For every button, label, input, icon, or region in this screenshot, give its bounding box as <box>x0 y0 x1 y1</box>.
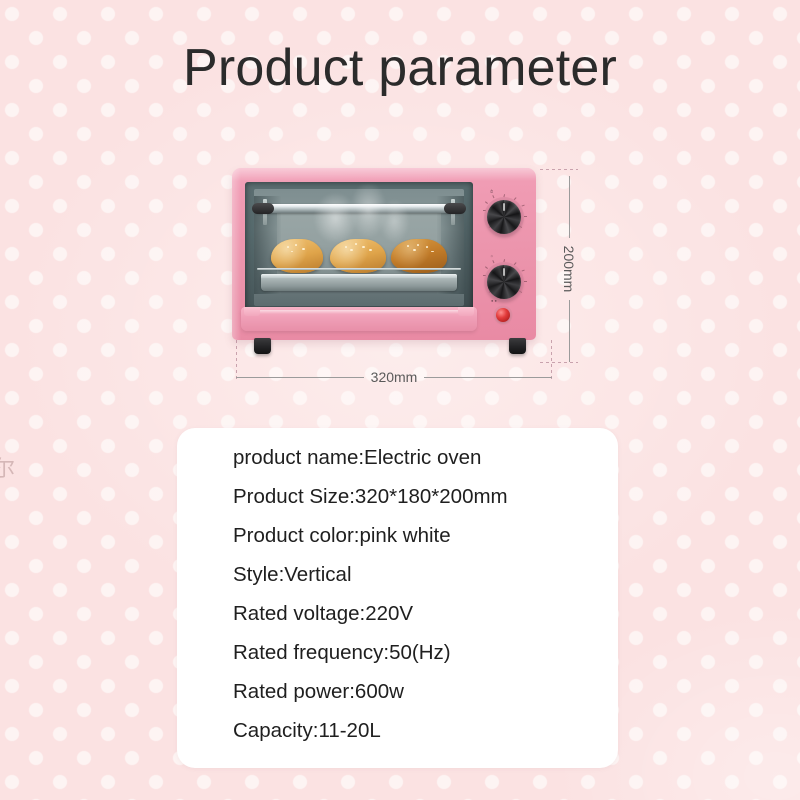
width-dimension-line-right <box>424 377 552 378</box>
oven-glass-door <box>245 182 473 311</box>
width-dimension-label: 320mm <box>371 368 418 386</box>
spec-item-rated-power: Rated power:600w <box>233 672 604 711</box>
page-title: Product parameter <box>0 36 800 100</box>
heating-element <box>255 204 463 213</box>
spec-item-style: Style:Vertical <box>233 555 604 594</box>
timer-knob[interactable] <box>487 200 521 234</box>
width-dimension-line-left <box>236 377 364 378</box>
specification-card: product name:Electric oven Product Size:… <box>177 428 618 768</box>
height-dimension-line-top <box>569 176 570 238</box>
oven-top-highlight <box>232 168 536 181</box>
baking-tray <box>261 274 457 291</box>
product-parameter-page: Product parameter 尔 <box>0 0 800 800</box>
power-indicator-label: ● ● <box>491 299 497 303</box>
temperature-dial-mark: ☼ <box>490 254 494 258</box>
spec-item-capacity: Capacity:11-20L <box>233 711 604 750</box>
product-photo: ⏱ ☼ <box>232 168 552 364</box>
oven-foot-left <box>254 338 271 354</box>
temperature-knob[interactable] <box>487 265 521 299</box>
heating-element-cap-right <box>444 203 466 214</box>
wire-rack <box>257 268 461 270</box>
oven-body: ⏱ ☼ <box>232 168 536 340</box>
spec-item-product-size: Product Size:320*180*200mm <box>233 477 604 516</box>
oven-door-handle-bar <box>241 307 477 331</box>
spec-item-rated-voltage: Rated voltage:220V <box>233 594 604 633</box>
baking-tray-lip <box>261 274 457 278</box>
specification-list: product name:Electric oven Product Size:… <box>233 438 604 750</box>
door-notch-left <box>244 307 260 316</box>
door-notch-right <box>458 307 474 316</box>
spec-item-product-name: product name:Electric oven <box>233 438 604 477</box>
height-dimension: 200mm <box>560 176 578 362</box>
height-dimension-line-bottom <box>569 300 570 362</box>
spec-item-product-color: Product color:pink white <box>233 516 604 555</box>
heating-element-cap-left <box>252 203 274 214</box>
width-dimension: 320mm <box>236 368 552 386</box>
oven-control-panel: ⏱ ☼ <box>481 182 529 332</box>
watermark-character: 尔 <box>0 458 15 480</box>
oven-left-highlight <box>232 168 241 340</box>
power-indicator-light <box>496 308 510 322</box>
height-dimension-label: 200mm <box>560 246 578 293</box>
spec-item-rated-frequency: Rated frequency:50(Hz) <box>233 633 604 672</box>
oven-foot-right <box>509 338 526 354</box>
